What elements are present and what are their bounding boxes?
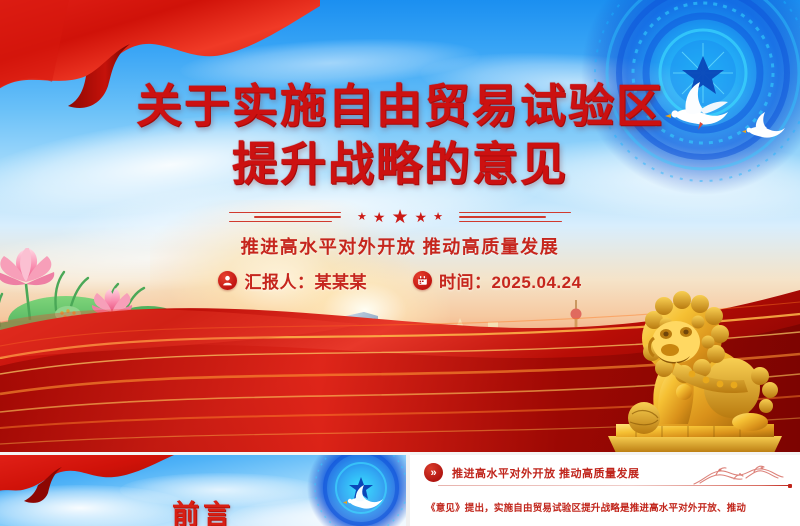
content-slide-header: » 推进高水平对外开放 推动高质量发展 [424,463,640,482]
star-divider: ★ ★ ★ ★ ★ [0,206,800,228]
date-item: 时间：2025.04.24 [413,268,582,293]
content-slide-header-text: 推进高水平对外开放 推动高质量发展 [452,465,640,481]
divider-lines-right [459,212,571,223]
chinese-mountain-ornament [690,462,786,488]
calendar-icon [413,271,432,290]
presenter-text: 汇报人：某某某 [244,268,367,293]
page-title-line-2: 提升战略的意见 [0,136,800,194]
title-block: 关于实施自由贸易试验区 提升战略的意见 [0,78,800,194]
page-title-line-1: 关于实施自由贸易试验区 [0,78,800,136]
star-icon: ★ [415,210,428,224]
thumbnail-preface-slide[interactable]: 前言 [0,455,406,526]
five-stars: ★ ★ ★ ★ ★ [349,208,451,227]
star-icon: ★ [357,212,367,223]
divider-lines-left [229,212,341,223]
thumbnail-content-slide[interactable]: » 推进高水平对外开放 推动高质量发展 《意见》提出，实施自由 [410,455,800,526]
thumbnail-preface-title: 前言 [0,493,406,526]
person-icon [218,271,237,290]
page-subtitle: 推进高水平对外开放 推动高质量发展 [0,233,800,259]
star-icon: ★ [433,212,443,223]
date-text: 时间：2025.04.24 [439,268,582,293]
presenter-item: 汇报人：某某某 [218,268,367,293]
presentation-canvas: 关于实施自由贸易试验区 提升战略的意见 ★ ★ ★ ★ ★ 推进高水平对外开放 … [0,0,800,526]
main-title-slide[interactable]: 关于实施自由贸易试验区 提升战略的意见 ★ ★ ★ ★ ★ 推进高水平对外开放 … [0,0,800,452]
double-chevron-right-icon: » [424,463,443,482]
star-icon: ★ [391,208,408,227]
meta-row: 汇报人：某某某 时间：2025.04.24 [0,268,800,293]
star-icon: ★ [373,210,386,224]
content-slide-body-text: 《意见》提出，实施自由贸易试验区提升战略是推进高水平对外开放、推动 [426,501,796,516]
